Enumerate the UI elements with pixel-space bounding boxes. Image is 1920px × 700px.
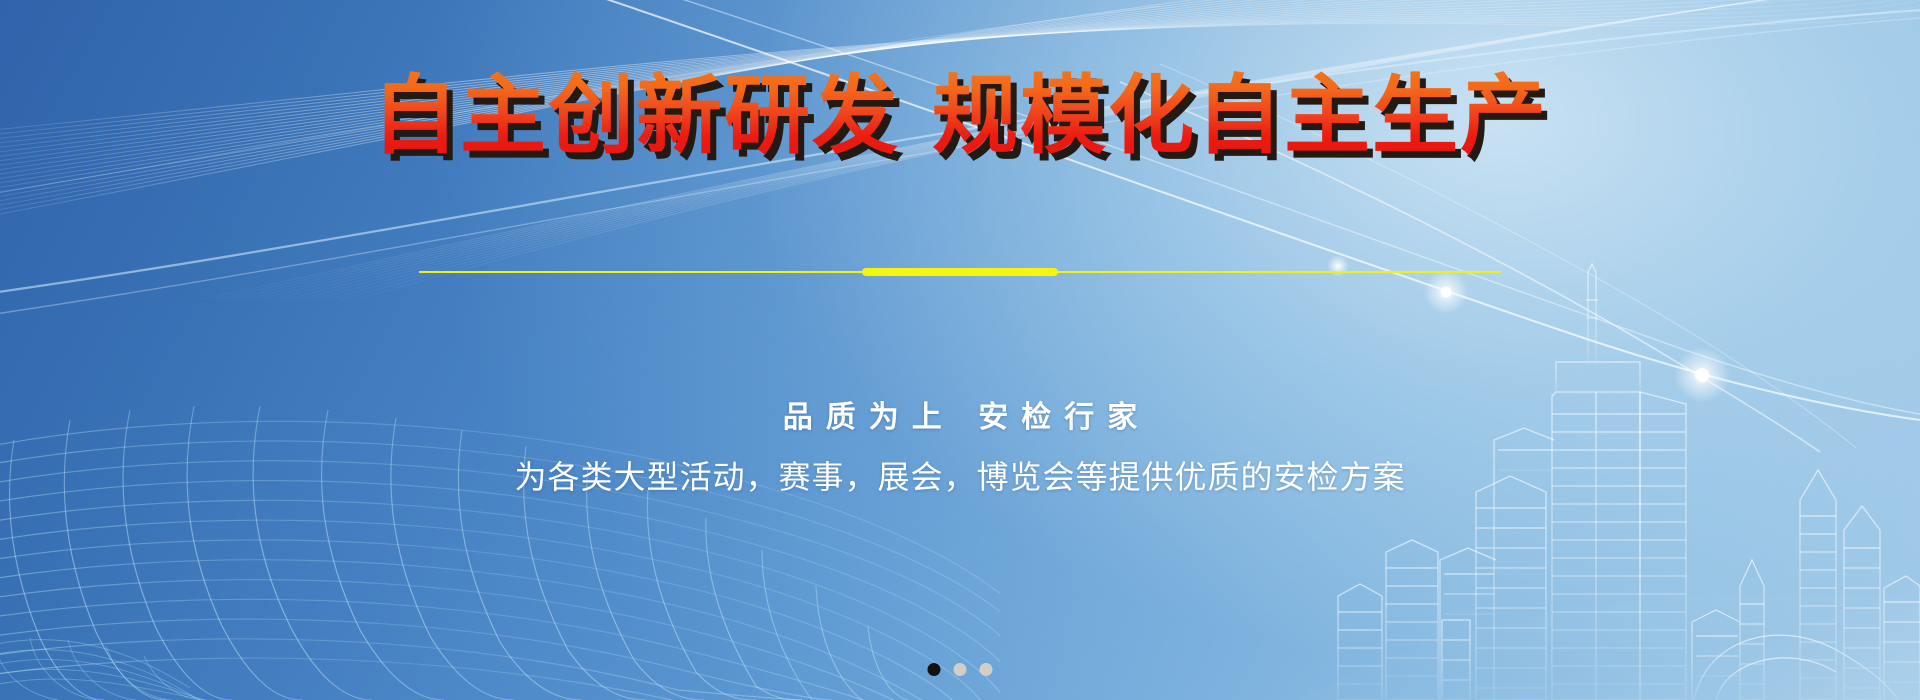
headline-text: 自主创新研发 规模化自主生产 (372, 66, 1548, 166)
yellow-divider (419, 268, 1501, 276)
divider-thick-segment (862, 268, 1058, 276)
banner-subtagline: 为各类大型活动，赛事，展会，博览会等提供优质的安检方案 (0, 452, 1920, 498)
carousel-dot-2[interactable] (954, 663, 967, 676)
banner-headline: 自主创新研发 规模化自主生产 自主创新研发 规模化自主生产 (0, 72, 1920, 161)
carousel-dot-1[interactable] (928, 663, 941, 676)
hero-banner: 自主创新研发 规模化自主生产 自主创新研发 规模化自主生产 品质为上 安检行家 … (0, 0, 1920, 700)
light-spark-icon (1327, 255, 1730, 403)
carousel-dots[interactable] (928, 663, 993, 676)
carousel-dot-3[interactable] (980, 663, 993, 676)
banner-tagline: 品质为上 安检行家 (0, 392, 1920, 436)
